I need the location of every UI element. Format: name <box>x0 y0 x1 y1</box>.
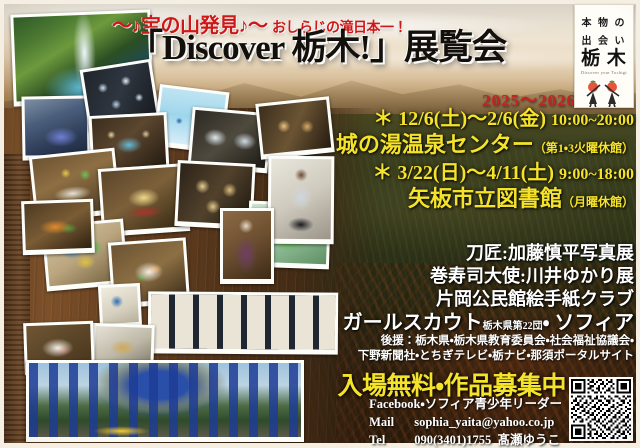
schedule-block: ＊ 12/6(土)〜2/6(金) 10:00~20:00 城の湯温泉センター（第… <box>330 108 634 212</box>
session1-dates-row: ＊ 12/6(土)〜2/6(金) 10:00~20:00 <box>330 108 634 132</box>
sponsor-line-1: 後援：栃木県・栃木県教育委員会・社会福祉協議会・ <box>304 334 634 349</box>
logo-mascot-figures <box>575 78 633 108</box>
photo-woman-with-tray <box>268 156 335 245</box>
contact-mail-label: Mail <box>369 414 411 432</box>
session2-dates-row: ＊ 3/22(日)〜4/11(土) 9:00~18:00 <box>330 162 634 186</box>
session2-time: 9:00~18:00 <box>559 166 634 183</box>
exhibit-list: 刀匠:加藤慎平写真展 巻寿司大使:川井ゆかり展 片岡公民館絵手紙クラブ ガールス… <box>314 242 634 336</box>
sponsor-list: 後援：栃木県・栃木県教育委員会・社会福祉協議会・ 下野新聞社・とちぎテレビ・栃ナ… <box>304 334 634 364</box>
event-poster: 〜♪宝の山発見♪〜 おしらじの滝日本一！ 「Discover 栃木!」展覧会 2… <box>0 0 640 448</box>
session1-closed-note: （第1・3火曜休館） <box>534 141 634 155</box>
exhibit-item-2: 巻寿司大使:川井ゆかり展 <box>314 265 634 288</box>
mascot-right-icon <box>605 81 619 109</box>
contact-tel-row: Tel 090(3401)1755 髙瀬ゆうこ <box>369 432 562 448</box>
session2-venue: 矢板市立図書館 <box>408 186 562 211</box>
tochigi-prefecture-logo: 本 物 の 出 会 い 栃 木 Discover your Tochigi <box>574 4 634 108</box>
exhibit-group-suffix: ・ ソフィア <box>543 312 634 334</box>
logo-line-3: 栃 木 <box>575 49 633 68</box>
sponsor-line-2: 下野新聞社・とちぎテレビ・栃ナビ・那須ポータルサイト <box>304 349 634 364</box>
session1-time: 10:00~20:00 <box>551 112 634 129</box>
session1-venue: 城の湯温泉センター <box>336 132 534 157</box>
qr-code[interactable] <box>569 377 633 441</box>
logo-line-2: 出 会 い <box>575 32 633 47</box>
session2-closed-note: （月曜休館） <box>562 195 634 209</box>
session2-dates: ＊ 3/22(日)〜4/11(土) <box>372 162 554 184</box>
photo-sweets-top <box>255 96 334 159</box>
contact-mail-value: sophia_yaita@yahoo.co.jp <box>414 415 554 429</box>
exhibit-item-4: ガールスカウト栃木県第22団・ ソフィア <box>314 311 634 336</box>
contact-facebook-row: Facebook・ソフィア青少年リーダー <box>369 396 562 414</box>
session1-dates: ＊ 12/6(土)〜2/6(金) <box>373 108 546 130</box>
contact-person: 髙瀬ゆうこ <box>498 433 561 447</box>
photo-blue-emblem <box>98 283 142 329</box>
session1-venue-row: 城の湯温泉センター（第1・3火曜休館） <box>330 132 634 158</box>
page-title: 「Discover 栃木!」展覧会 <box>128 30 568 67</box>
contact-block: Facebook・ソフィア青少年リーダー Mail sophia_yaita@y… <box>369 396 562 448</box>
contact-facebook-value: ・ソフィア青少年リーダー <box>420 397 562 411</box>
contact-facebook-label: Facebook <box>369 396 420 414</box>
photo-person-purple-apron <box>220 208 274 284</box>
exhibit-group-annotation: 栃木県第22団 <box>483 321 543 332</box>
contact-tel-label: Tel <box>369 432 411 448</box>
photo-vegetable-dish <box>21 199 95 255</box>
logo-line-1: 本 物 の <box>575 14 633 29</box>
mascot-left-icon <box>587 81 600 109</box>
contact-mail-row: Mail sophia_yaita@yahoo.co.jp <box>369 414 562 432</box>
session2-venue-row: 矢板市立図書館（月曜休館） <box>330 186 634 212</box>
contact-tel-value: 090(3401)1755 <box>414 433 491 447</box>
logo-tagline: Discover your Tochigi <box>575 70 633 75</box>
exhibit-item-3: 片岡公民館絵手紙クラブ <box>314 288 634 311</box>
exhibit-group-name: ガールスカウト <box>343 312 483 334</box>
exhibit-item-1: 刀匠:加藤慎平写真展 <box>314 242 634 265</box>
photo-group-with-balloon <box>26 360 304 442</box>
